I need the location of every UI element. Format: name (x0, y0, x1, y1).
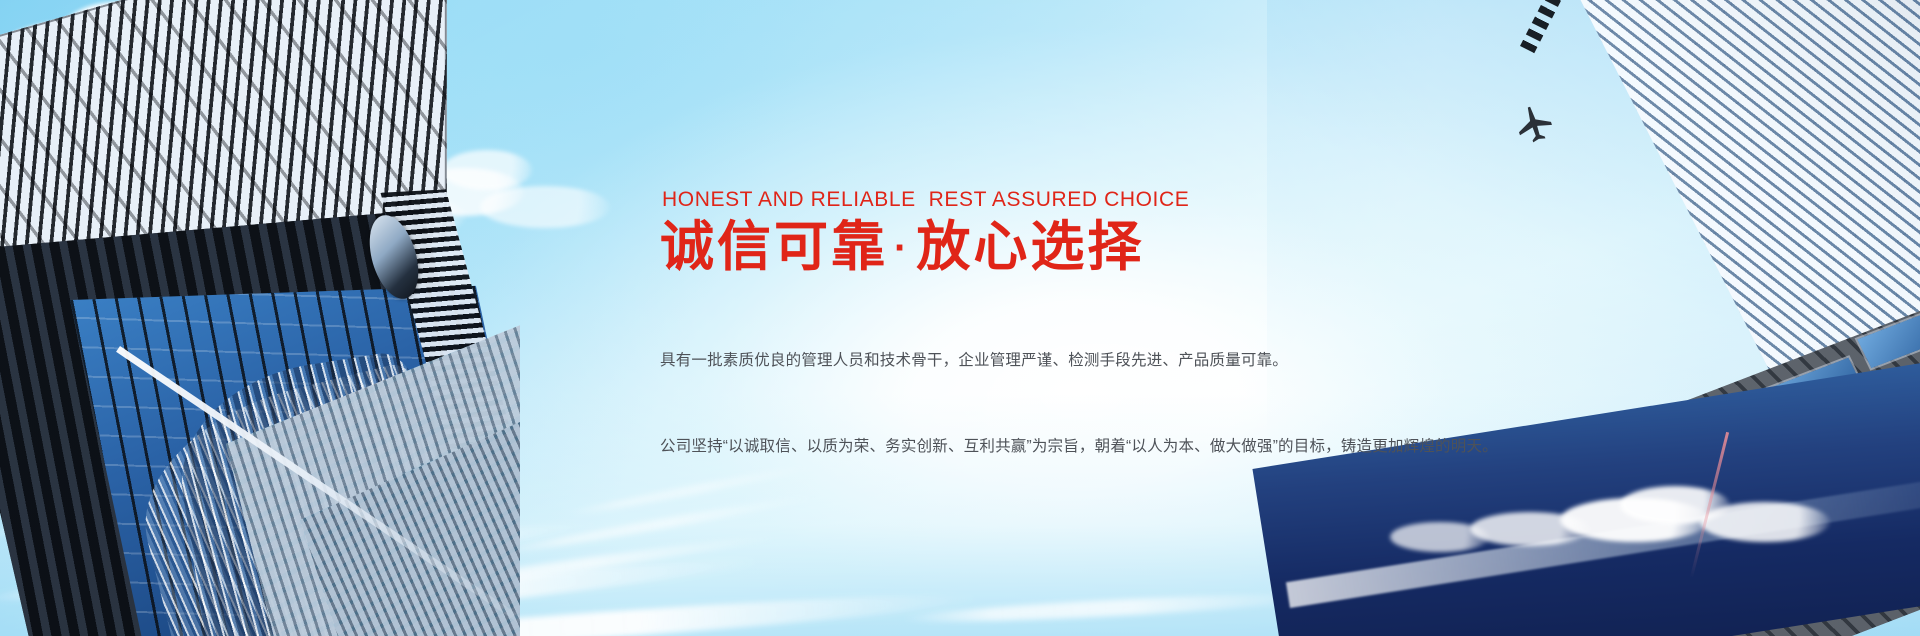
left-skyscraper-group (0, 0, 520, 636)
banner-eyebrow-english: HONEST AND RELIABLE REST ASSURED CHOICE (662, 188, 1760, 211)
hero-banner: HONEST AND RELIABLE REST ASSURED CHOICE … (0, 0, 1920, 636)
banner-copy-block: HONEST AND RELIABLE REST ASSURED CHOICE … (660, 188, 1760, 519)
headline-part-left: 诚信可靠 (660, 217, 888, 277)
banner-paragraph: 具有一批素质优良的管理人员和技术骨干，企业管理严谨、检测手段先进、产品质量可靠。… (660, 290, 1760, 519)
headline-separator-dot: · (888, 226, 916, 270)
banner-headline: 诚信可靠·放心选择 (660, 217, 1760, 277)
headline-part-right: 放心选择 (916, 217, 1144, 277)
paragraph-line-1: 具有一批素质优良的管理人员和技术骨干，企业管理严谨、检测手段先进、产品质量可靠。 (660, 347, 1760, 376)
paragraph-line-2: 公司坚持“以诚取信、以质为荣、务实创新、互利共赢”为宗旨，朝着“以人为本、做大做… (660, 433, 1760, 462)
